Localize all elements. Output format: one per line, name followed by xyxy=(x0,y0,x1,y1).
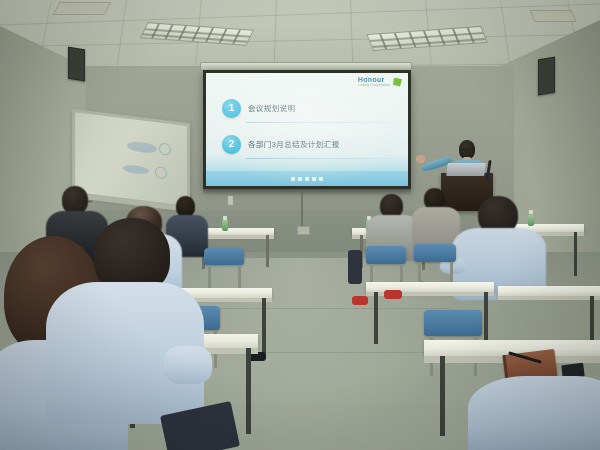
screen-cable xyxy=(301,192,303,226)
desk xyxy=(498,286,600,296)
slide-logo-subtext: Linking Cooperation xyxy=(358,84,390,87)
slide-item-underline xyxy=(246,158,396,159)
attendee-front-right xyxy=(468,372,600,450)
attendee-torso xyxy=(468,376,600,450)
presenter-hand xyxy=(416,155,425,163)
red-shoe xyxy=(352,296,368,305)
slide-footer xyxy=(206,171,408,186)
wall-outlet xyxy=(297,226,310,235)
slide-item-number: 1 xyxy=(222,99,241,118)
wall-speaker-left xyxy=(68,47,85,82)
water-bottle xyxy=(222,216,228,231)
attendee-leg xyxy=(348,250,362,284)
slide-logo: Honour Linking Cooperation xyxy=(358,77,402,87)
attendee-glasses xyxy=(78,201,92,204)
chair xyxy=(204,248,244,265)
desk-leg xyxy=(440,356,445,436)
chair xyxy=(414,244,456,262)
wall-speaker-right xyxy=(538,57,555,96)
slide-item-text: 各部门3月总结及计划汇报 xyxy=(248,139,339,150)
meeting-room-photo: Honour Linking Cooperation 1 会议规划说明 2 各部… xyxy=(0,0,600,450)
attendee-front-left-man xyxy=(46,218,206,450)
desk-leg xyxy=(246,348,251,434)
attendee-head xyxy=(62,186,88,214)
chair xyxy=(366,246,406,264)
chair xyxy=(424,310,482,336)
red-shoe xyxy=(384,290,402,299)
screen-mount-left xyxy=(228,196,233,205)
projector-screen: Honour Linking Cooperation 1 会议规划说明 2 各部… xyxy=(203,70,411,189)
slide-item-number: 2 xyxy=(222,135,241,154)
desk-leg xyxy=(574,232,577,276)
attendee-arm xyxy=(164,346,212,384)
ceiling-vent-left xyxy=(53,2,112,15)
presenter-glasses xyxy=(460,149,474,152)
desk-leg xyxy=(374,292,378,344)
slide-logo-mark xyxy=(393,78,402,87)
slide-item-underline xyxy=(246,122,396,123)
ceiling-vent-right xyxy=(529,10,576,22)
desk-leg xyxy=(262,298,266,354)
slide-item-text: 会议规划说明 xyxy=(248,103,295,114)
desk-leg xyxy=(266,235,269,267)
laptop xyxy=(446,163,486,176)
slide-agenda-item: 2 各部门3月总结及计划汇报 xyxy=(222,135,398,154)
slide-agenda-item: 1 会议规划说明 xyxy=(222,99,398,118)
